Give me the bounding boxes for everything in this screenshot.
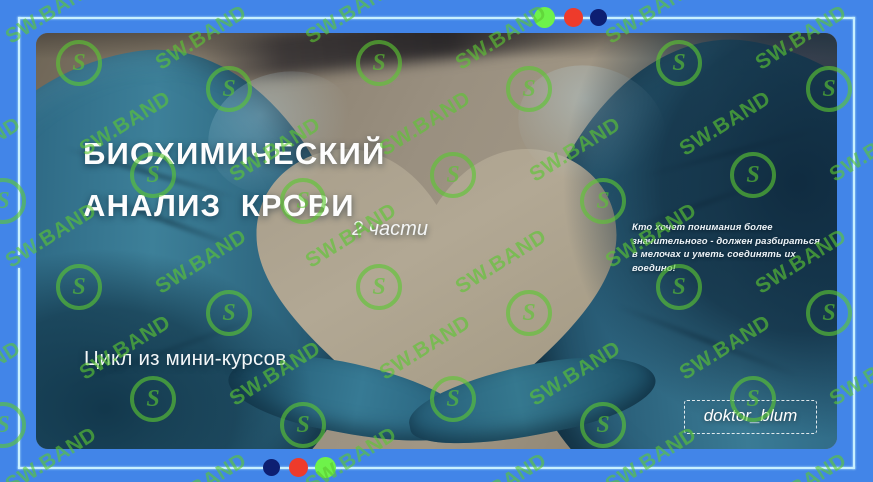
decor-dot-navy-top xyxy=(590,9,607,26)
frame-line-left-upper xyxy=(18,17,20,255)
watermark-text: SW.BAND xyxy=(151,449,251,482)
title-line-1: БИОХИМИЧЕСКИЙ xyxy=(83,128,513,180)
watermark-text: SW.BAND xyxy=(751,449,851,482)
decor-dot-navy-bottom xyxy=(263,459,280,476)
frame-line-left-lower xyxy=(18,268,20,469)
photo-left-shade xyxy=(36,219,366,449)
subtitle: Цикл из мини-курсов xyxy=(84,347,286,371)
decor-dot-red-bottom xyxy=(289,458,308,477)
watermark-text: SW.BAND xyxy=(451,449,551,482)
parts-label: 2 части xyxy=(352,218,428,241)
watermark-text: SW.BAND xyxy=(0,337,25,412)
watermark-logo-icon: S xyxy=(0,178,26,224)
decor-dot-green-top xyxy=(534,7,555,28)
watermark-text: SW.BAND xyxy=(0,113,25,188)
decor-dot-green-bottom xyxy=(315,457,336,478)
watermark-logo-icon: S xyxy=(0,402,26,448)
frame-line-top xyxy=(18,17,855,19)
author-handle-badge: doktor_blum xyxy=(684,400,817,434)
quote-text: Кто хочет понимания более значительного … xyxy=(632,221,822,275)
page-title: БИОХИМИЧЕСКИЙ АНАЛИЗ КРОВИ xyxy=(83,128,513,232)
title-line-2: АНАЛИЗ КРОВИ xyxy=(83,180,513,232)
decor-dot-red-top xyxy=(564,8,583,27)
poster-canvas: БИОХИМИЧЕСКИЙ АНАЛИЗ КРОВИ 2 части Кто х… xyxy=(0,0,873,482)
frame-line-right xyxy=(853,17,855,469)
frame-line-bottom xyxy=(18,467,855,469)
author-handle-label: doktor_blum xyxy=(685,406,816,426)
